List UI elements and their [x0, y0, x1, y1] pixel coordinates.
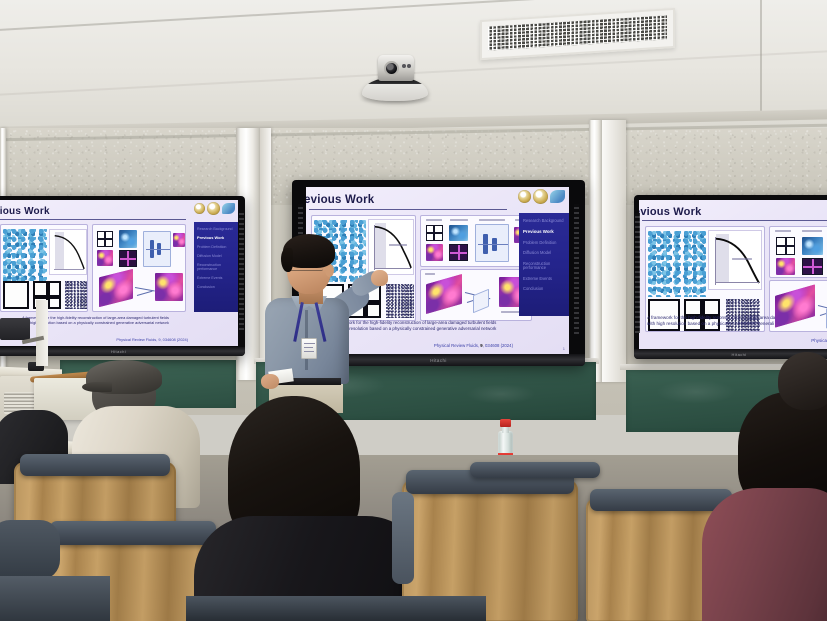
figure-label — [775, 230, 791, 232]
presenter-hand — [261, 374, 279, 389]
velocity-heatmap — [426, 274, 462, 314]
decay-curve-chart — [49, 229, 87, 275]
slide-content-left — [0, 222, 194, 312]
slide-title-rule — [309, 209, 507, 210]
grid-mask-figure — [776, 237, 795, 255]
slide-nav-item-5[interactable]: Extreme Events — [523, 277, 565, 282]
slide-title-rule — [0, 219, 186, 220]
presenter-id-badge — [301, 338, 317, 359]
audience-member-far-right — [778, 352, 827, 416]
slide-nav-item-3[interactable]: Diffusion Model — [197, 254, 235, 258]
figure-panel — [420, 215, 532, 267]
figure-label — [450, 219, 468, 221]
wall-column — [589, 120, 602, 382]
right-display[interactable]: evious Work — [634, 195, 827, 359]
vent-grille-icon — [488, 15, 667, 50]
fractal-cluster-plot — [3, 229, 47, 281]
citation-rest: , 034608 (2024) — [483, 343, 513, 348]
chair-headrest — [50, 521, 216, 545]
display-brand-label: Hitachi — [430, 358, 447, 363]
fractal-cluster-plot — [648, 231, 706, 297]
chair-armrest — [392, 492, 414, 584]
slide-caption-right: A framework for the high-fidelity recons… — [639, 310, 827, 350]
display-brand-label: Hitachi — [731, 352, 746, 357]
ptz-camera — [360, 55, 430, 110]
logo-ring-icon — [207, 202, 220, 215]
gan-architecture-diagram — [475, 224, 509, 262]
diagram-connector — [137, 291, 153, 296]
citation-journal: Physical Review Fluids, — [434, 343, 479, 348]
chair-cushion — [0, 576, 110, 621]
velocity-heatmap — [426, 244, 443, 261]
grid-mask-figure — [97, 231, 113, 247]
grid-mask-figure — [449, 244, 468, 261]
bottle-neck — [502, 426, 509, 433]
figure-label — [426, 219, 442, 221]
slide-title: evious Work — [639, 206, 701, 218]
chalk-smudge — [466, 384, 536, 404]
gan-architecture-diagram — [143, 231, 171, 267]
audience-top — [702, 488, 827, 621]
wall-column — [602, 120, 626, 382]
grid-mask-figure — [3, 281, 29, 309]
slide-content-right — [639, 224, 827, 310]
chart-axis — [54, 269, 84, 270]
slide-title: vious Work — [0, 206, 50, 217]
display-brand-label: Hitachi — [111, 349, 126, 354]
slide-nav-left: Research Background Previous Work Proble… — [194, 222, 238, 312]
slide-nav-item-4[interactable]: Reconstruction performance — [523, 262, 565, 271]
figure-panel — [420, 269, 532, 321]
slide-title-rule — [642, 220, 827, 221]
slide-page-number: 1 — [563, 346, 565, 351]
slide-right: evious Work — [639, 200, 827, 350]
chart-x-axis — [715, 282, 759, 283]
chair-cushion — [0, 520, 60, 580]
slide-nav-item-0[interactable]: Research Background — [523, 219, 565, 224]
velocity-heatmap — [99, 269, 133, 307]
chart-curve-icon — [50, 230, 86, 274]
velocity-heatmap — [155, 273, 183, 301]
figure-label — [425, 273, 435, 275]
logo-ring-icon — [518, 190, 531, 203]
audience-head — [778, 352, 827, 410]
figure-label — [802, 230, 822, 232]
flat-cap-brim — [82, 382, 112, 392]
ceiling-seam — [760, 0, 762, 120]
figure-panel — [92, 224, 186, 312]
audience-member-right — [716, 392, 827, 621]
chair-headrest — [20, 454, 170, 476]
velocity-heatmap — [97, 250, 113, 266]
chart-annotation — [732, 258, 752, 260]
presenter — [243, 228, 383, 388]
chair-headrest — [590, 489, 732, 511]
camera-ir-led-icon — [407, 64, 411, 68]
speckle-noise-figure — [65, 281, 87, 309]
velocity-heatmap — [802, 237, 823, 255]
slide-nav-center: Research Background Previous Work Proble… — [519, 213, 569, 316]
slide-nav-item-6[interactable]: Conclusion — [197, 285, 235, 289]
lecture-hall-photo: vious Work — [0, 0, 827, 621]
presenter-pointing-hand — [371, 270, 388, 286]
velocity-heatmap — [776, 258, 795, 275]
slide-nav-item-5[interactable]: Extreme Events — [197, 276, 235, 280]
slide-title: evious Work — [306, 194, 374, 206]
wall-trim — [36, 300, 48, 366]
camera-body — [378, 55, 414, 81]
display-speaker — [635, 213, 640, 333]
grid-mask-figure — [802, 258, 823, 275]
figure-panel — [0, 224, 88, 312]
decay-curve-chart — [708, 230, 762, 290]
speckle-noise-figure — [386, 284, 414, 318]
slide-citation: Physical Review Fluids, 9, 034608 (2024) — [434, 343, 513, 349]
institution-logo — [518, 189, 565, 204]
logo-swoosh-icon — [222, 203, 235, 214]
grid-mask-figure — [119, 250, 137, 267]
equipment-panel — [0, 318, 30, 340]
camera-lens-icon — [384, 61, 399, 76]
chart-y-axis — [715, 237, 716, 285]
slide-nav-item-2[interactable]: Problem Definition — [523, 241, 565, 246]
velocity-heatmap — [119, 230, 137, 248]
chair-cushion — [186, 596, 486, 621]
grid-mask-figure — [426, 225, 443, 241]
slide-nav-item-1[interactable]: Previous Work — [523, 230, 565, 235]
camera-ir-led-icon — [402, 64, 406, 68]
figure-label — [479, 219, 505, 221]
chair-headrest — [470, 462, 600, 478]
logo-ring-icon — [533, 189, 548, 204]
presenter-hair — [283, 234, 335, 268]
auditorium-chair[interactable] — [470, 462, 600, 488]
velocity-heatmap — [449, 225, 468, 241]
diagram-plane — [473, 289, 489, 313]
logo-ring-icon — [194, 203, 205, 214]
logo-swoosh-icon — [550, 190, 565, 203]
slide-nav-item-3[interactable]: Diffusion Model — [523, 251, 565, 256]
caption-line-2: with high resolution based on a physical… — [647, 321, 827, 327]
slide-citation: Physical Re — [811, 338, 827, 344]
figure-panel — [769, 226, 827, 278]
display-speaker — [574, 204, 579, 334]
velocity-heatmap — [173, 233, 185, 247]
slide-nav-item-1[interactable]: Previous Work — [197, 236, 235, 240]
slide-nav-item-0[interactable]: Research Background — [197, 227, 235, 231]
slide-citation: Physical Review Fluids, 9, 034608 (2024) — [116, 337, 188, 342]
bottle-cap — [500, 419, 511, 427]
institution-logo — [194, 202, 235, 215]
slide-nav-item-4[interactable]: Reconstruction performance — [197, 263, 235, 271]
slide-nav-item-2[interactable]: Problem Definition — [197, 245, 235, 249]
slide-nav-item-6[interactable]: Conclusion — [523, 287, 565, 292]
chart-annotation — [389, 244, 407, 246]
